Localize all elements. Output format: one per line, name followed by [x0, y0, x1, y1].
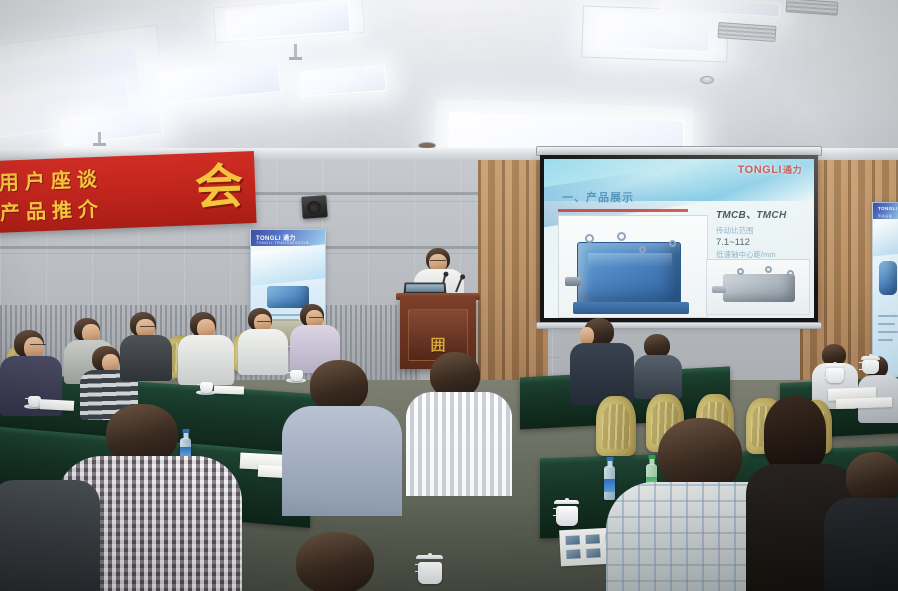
attendee-torso [178, 335, 234, 385]
attendee-torso [824, 498, 898, 591]
conference-room-photo: TONGLI通力 一、产品展示 TMCB、TMCH 传动比范围 7.1~112 … [0, 0, 898, 591]
bottle-cap [606, 457, 613, 461]
lifting-lug [765, 266, 772, 273]
slide-accent-rule [558, 209, 688, 212]
rollup-text-line [878, 323, 895, 325]
slide-logo-cn: 通力 [783, 165, 802, 175]
slide-section-title: 一、产品展示 [562, 189, 634, 205]
attendee-torso [634, 355, 682, 399]
curtain-left [478, 160, 548, 410]
spec-value-ratio: 7.1~112 [716, 236, 816, 250]
lifting-lug [787, 270, 794, 277]
projector-screen: TONGLI通力 一、产品展示 TMCB、TMCH 传动比范围 7.1~112 … [540, 155, 818, 322]
teacup [418, 562, 442, 584]
rollup-product-image [267, 286, 309, 308]
attendee-torso [0, 480, 100, 591]
banner-line-1: 用户座谈 [0, 163, 103, 196]
brochure-thumbnail [586, 548, 600, 558]
bottle-label [604, 479, 615, 492]
slide-product-photo-main [558, 215, 708, 318]
fire-sprinkler-icon [700, 76, 714, 84]
bottle-neck [183, 432, 188, 439]
banner-big-char: 会 [194, 157, 244, 217]
banner-line-2: 产品推介 [0, 193, 104, 226]
bottle-cap [182, 429, 189, 433]
rollup-text-line [878, 315, 898, 317]
lifting-lug [617, 232, 626, 241]
teapot-lid [825, 364, 845, 368]
attendee-torso [570, 343, 634, 405]
lifting-lug [639, 246, 646, 253]
notes-paper [40, 399, 74, 411]
lifting-lug [585, 234, 594, 243]
rollup-wave-graphic [873, 220, 898, 257]
red-event-banner: 用户座谈 产品推介 会 [0, 151, 257, 233]
notes-paper [836, 397, 892, 409]
teapot-lid [861, 356, 880, 360]
glasses [257, 321, 271, 324]
rollup-brand-text: TONGLI [878, 206, 897, 211]
laptop-screen [406, 284, 445, 292]
attendee-torso [282, 406, 402, 516]
ceiling-hanger [98, 132, 101, 146]
glasses [30, 344, 46, 347]
brochure-thumbnail [565, 535, 579, 545]
notes-paper [214, 385, 244, 394]
attendee-head [658, 418, 742, 492]
slide-logo: TONGLI通力 [738, 163, 802, 176]
wall-speaker-icon [301, 195, 327, 219]
teacup-lid [416, 555, 443, 559]
glasses [140, 326, 155, 329]
slide-model-name: TMCB、TMCH [716, 209, 816, 224]
teacup [290, 370, 303, 381]
teacup-lid [554, 500, 579, 504]
bottle-cap [648, 455, 655, 459]
bottle-neck [649, 458, 654, 465]
teacup [200, 382, 213, 393]
attendee-torso [120, 335, 172, 381]
light-frame [581, 5, 729, 62]
rollup-tagline-text: TONGLI TRANSMISSION [256, 241, 309, 245]
gearbox-illustration [577, 242, 681, 304]
ceiling-hanger [294, 44, 297, 60]
projector-screen-weight-bar [536, 322, 822, 329]
ceiling [0, 0, 898, 162]
rollup-tagline-text: 传动设备 [878, 214, 892, 218]
glasses [309, 317, 323, 320]
slide-product-photo-sub [706, 259, 810, 315]
rollup-product-image [879, 261, 897, 295]
attendee-torso [238, 329, 288, 375]
brochure-thumbnail [566, 549, 580, 559]
rollup-text-line [878, 339, 893, 341]
spec-label-ratio: 传动比范围 [716, 226, 816, 237]
attendee-head [296, 532, 374, 591]
bottle-neck [607, 460, 612, 467]
rollup-text-line [878, 331, 898, 333]
teacup [556, 506, 578, 526]
lifting-lug [669, 240, 676, 247]
chair [596, 396, 636, 456]
attendee-head [106, 404, 178, 464]
attendee-head [310, 360, 368, 412]
attendee-head [764, 396, 826, 470]
teapot [826, 368, 844, 383]
podium-emblem: 囲 [429, 335, 447, 355]
glasses [430, 260, 446, 263]
attendee-torso [406, 392, 512, 496]
gearbox-base [573, 302, 689, 314]
gearbox-illustration-secondary [723, 274, 795, 302]
teapot [862, 360, 879, 374]
attendee-head [846, 452, 898, 504]
rollup-wave-graphic [251, 244, 325, 286]
brochure-thumbnail [585, 534, 599, 544]
slide-logo-text: TONGLI [738, 164, 782, 176]
lifting-lug [737, 268, 744, 275]
water-bottle [604, 466, 615, 500]
